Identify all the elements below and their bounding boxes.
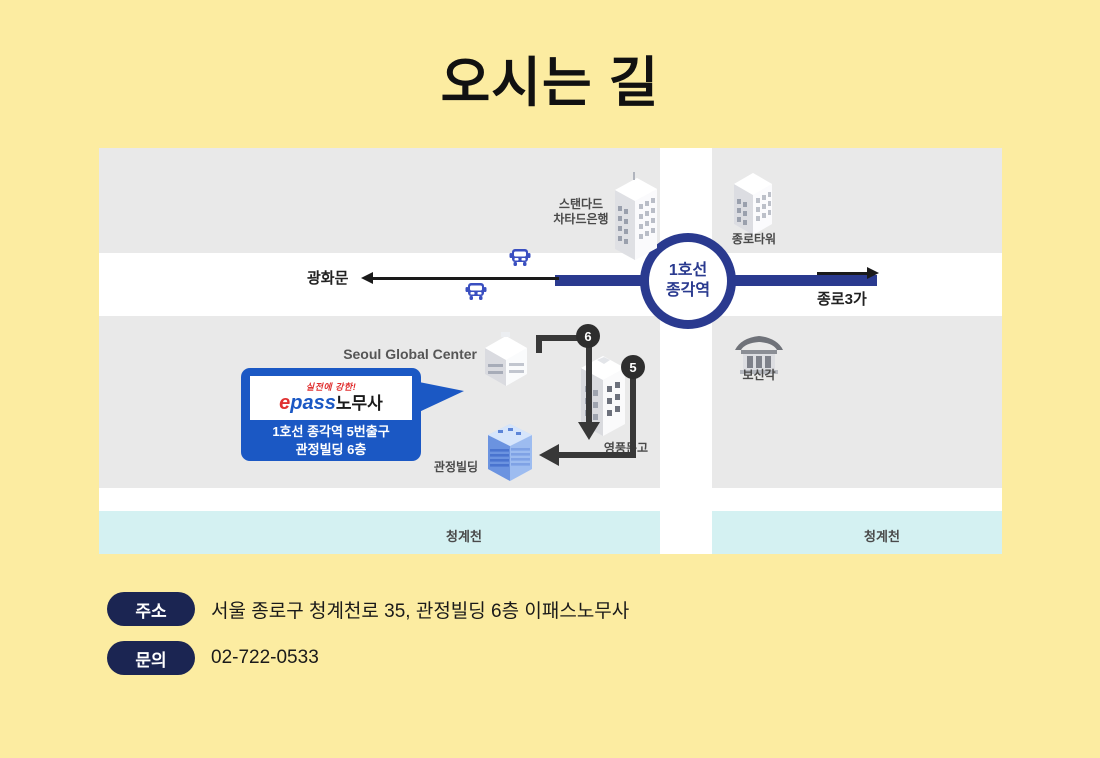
stream-label-right: 청계천	[847, 526, 917, 545]
route-6-arrowhead	[578, 422, 600, 440]
route-6-stub	[536, 335, 542, 353]
route-5-horizontal	[559, 452, 636, 458]
direction-label-gwanghwamun: 광화문	[307, 267, 348, 288]
callout-logo-panel: 실전에 강한! epass노무사	[250, 376, 412, 420]
direction-label-jongno3ga: 종로3가	[817, 288, 867, 309]
route-6-vertical	[586, 335, 592, 427]
blue-building-icon	[482, 419, 538, 496]
exit-marker-5[interactable]: 5	[621, 355, 645, 379]
station-line-label: 1호선	[669, 261, 707, 281]
subway-line-right	[717, 275, 877, 286]
phone-row: 문의 02-722-0533	[107, 641, 319, 675]
landmark-label-line1: 스탠다드	[559, 197, 603, 211]
cheonggyecheon-stream-left	[99, 511, 660, 554]
logo-e-letter: e	[279, 392, 290, 414]
landmark-label-seoul-global-center: Seoul Global Center	[327, 346, 477, 364]
arrow-left-line	[369, 277, 559, 280]
callout-line2: 관정빌딩 6층	[296, 442, 367, 457]
landmark-label-gwanjeong: 관정빌딩	[421, 460, 491, 475]
map-panel: 청계천 청계천 1호선 종각역 광화문 종로3가	[99, 148, 1002, 554]
address-badge: 주소	[107, 592, 195, 626]
landmark-label-line2: 차타드은행	[553, 212, 608, 226]
address-value: 서울 종로구 청계천로 35, 관정빌딩 6층 이패스노무사	[211, 596, 629, 623]
logo-script-text: 실전에 강한!	[306, 383, 356, 392]
arrow-right-line	[817, 272, 869, 275]
callout-line1: 1호선 종각역 5번출구	[272, 424, 389, 439]
landmark-label-standard-chartered: 스탠다드 차타드은행	[536, 197, 626, 227]
landmark-label-bosingak: 보신각	[727, 368, 791, 383]
callout-address-text: 1호선 종각역 5번출구 관정빌딩 6층	[241, 423, 421, 458]
phone-badge: 문의	[107, 641, 195, 675]
logo-korean-text: 노무사	[336, 394, 383, 413]
phone-value[interactable]: 02-722-0533	[211, 647, 319, 669]
exit-marker-6[interactable]: 6	[576, 324, 600, 348]
route-5-arrowhead	[539, 444, 559, 466]
bus-icon-lower	[464, 282, 488, 309]
station-name-label: 종각역	[666, 281, 710, 301]
page-title: 오시는 길	[0, 56, 1100, 110]
stream-label-left: 청계천	[429, 526, 499, 545]
bus-icon-upper	[508, 248, 532, 275]
arrow-left-icon	[361, 272, 373, 284]
landmark-label-jongno-tower: 종로타워	[719, 232, 789, 247]
location-callout: 실전에 강한! epass노무사 1호선 종각역 5번출구 관정빌딩 6층	[241, 368, 421, 461]
low-building-icon	[477, 326, 535, 401]
logo-pass-text: pass	[290, 392, 336, 414]
callout-tail	[419, 382, 464, 412]
address-row: 주소 서울 종로구 청계천로 35, 관정빌딩 6층 이패스노무사	[107, 592, 629, 626]
arrow-right-icon	[867, 267, 879, 279]
logo-wordmark: epass노무사	[279, 393, 383, 413]
